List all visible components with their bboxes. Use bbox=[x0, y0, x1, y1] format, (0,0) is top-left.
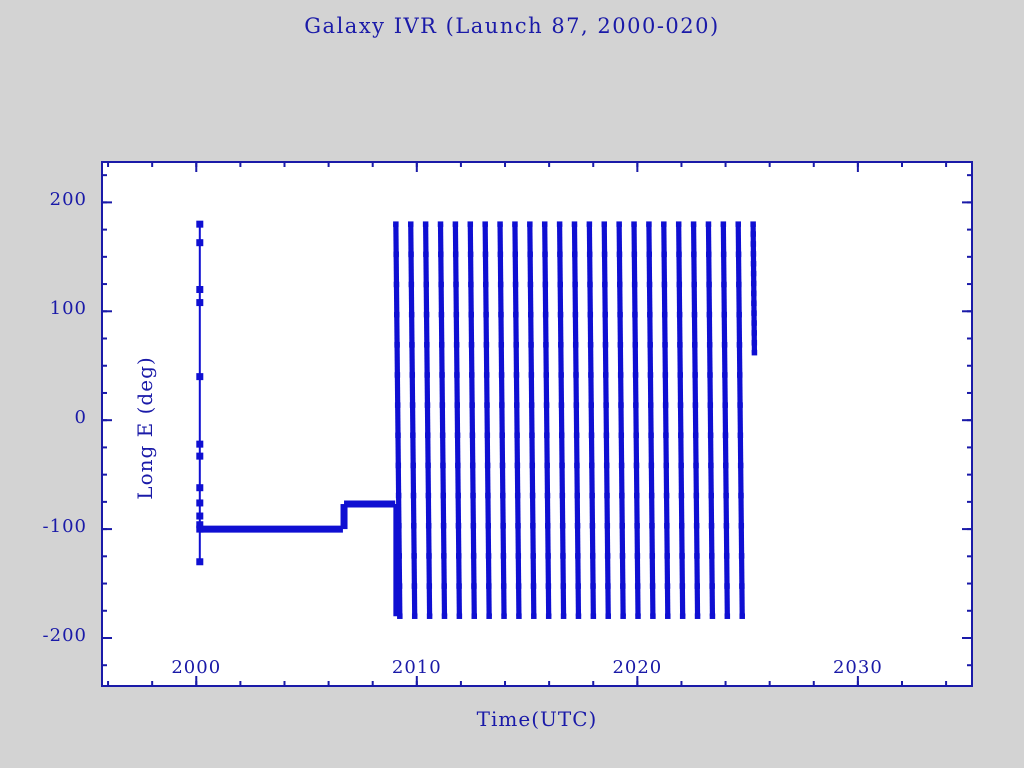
y-tick-label: 200 bbox=[0, 189, 87, 210]
chart-title: Galaxy IVR (Launch 87, 2000-020) bbox=[0, 14, 1024, 38]
x-tick-label: 2000 bbox=[151, 657, 241, 678]
chart-page: Galaxy IVR (Launch 87, 2000-020) Long E … bbox=[0, 0, 1024, 768]
y-tick-label: -100 bbox=[0, 516, 87, 537]
x-tick-label: 2010 bbox=[372, 657, 462, 678]
y-tick-label: 100 bbox=[0, 298, 87, 319]
plot-area: Long E (deg) Time(UTC) 2001000-100-200 2… bbox=[101, 161, 973, 687]
y-axis-label: Long E (deg) bbox=[133, 308, 157, 548]
y-tick-label: 0 bbox=[0, 407, 87, 428]
chart-canvas bbox=[101, 161, 973, 687]
y-tick-label: -200 bbox=[0, 625, 87, 646]
x-tick-label: 2030 bbox=[813, 657, 903, 678]
x-axis-label: Time(UTC) bbox=[101, 707, 973, 731]
x-tick-label: 2020 bbox=[592, 657, 682, 678]
